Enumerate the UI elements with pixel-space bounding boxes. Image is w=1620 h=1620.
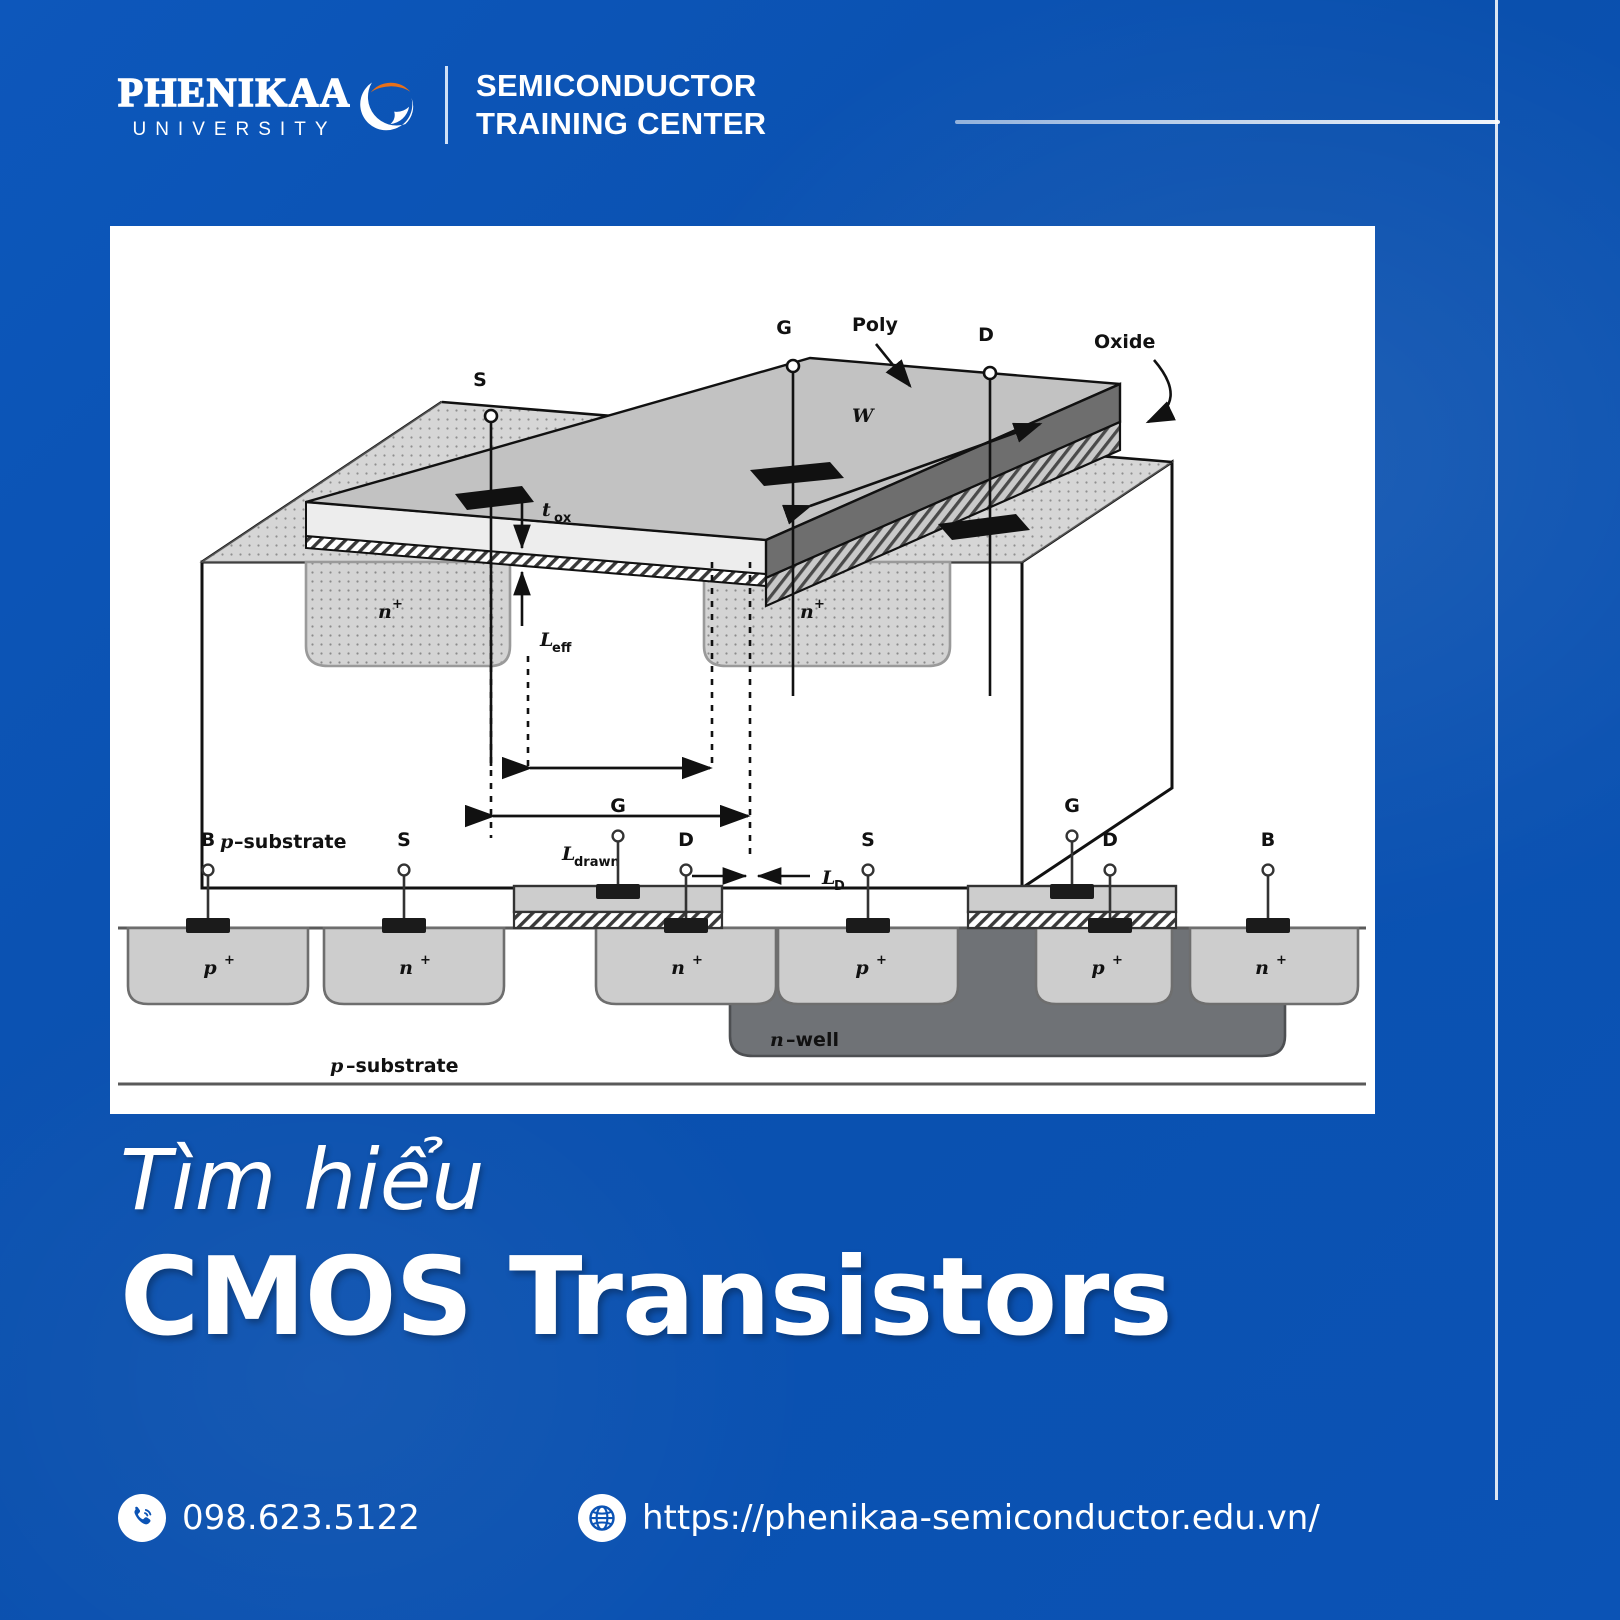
label-poly: Poly — [852, 314, 898, 336]
mosfet-3d-view: n + n + — [202, 314, 1172, 894]
label-cs-nmos-drain: D — [678, 829, 694, 851]
figure-panel: n + n + — [110, 226, 1375, 1114]
brand-divider — [445, 66, 448, 144]
label-n-well: –well — [786, 1029, 839, 1051]
label-cs-pmos-sup-2: + — [1276, 953, 1287, 968]
label-cs-nmos-gate: G — [610, 795, 626, 817]
header-accent-rule — [955, 120, 1500, 124]
label-cs-nmos-bulk: B — [201, 829, 215, 851]
source-n-plus-label: n — [378, 601, 392, 623]
vertical-accent-rule — [1495, 0, 1498, 1500]
headline: Tìm hiểu CMOS Transistors — [120, 1138, 1320, 1352]
drain-n-plus-label: n — [800, 601, 814, 623]
logo-wordmark: PHENIKAA — [118, 72, 351, 113]
label-oxide: Oxide — [1094, 331, 1155, 353]
phone-glyph — [127, 1503, 157, 1533]
poster-root: PHENIKAA UNIVERSITY SEMICONDUCTOR TRAINI… — [0, 0, 1620, 1620]
label-cs-nmos-region-1: n — [399, 957, 413, 979]
label-leff-sub: eff — [552, 641, 572, 656]
label-cs-pmos-region-1: p — [1091, 957, 1105, 979]
label-3d-substrate-prefix: p — [220, 831, 234, 853]
label-cs-pmos-region-2: n — [1255, 957, 1269, 979]
label-cs-pmos-gate: G — [1064, 795, 1080, 817]
phone-call-icon — [118, 1494, 166, 1542]
website-url: https://phenikaa-semiconductor.edu.vn/ — [642, 1498, 1320, 1538]
label-cs-nmos-sup-0: + — [224, 953, 235, 968]
label-cs-pmos-region-0: p — [855, 957, 869, 979]
label-W: W — [852, 405, 875, 427]
header: PHENIKAA UNIVERSITY SEMICONDUCTOR TRAINI… — [0, 0, 1620, 200]
label-n-well-prefix: n — [770, 1029, 784, 1051]
label-cs-pmos-drain: D — [1102, 829, 1118, 851]
label-cs-pmos-sup-1: + — [1112, 953, 1123, 968]
oxide-callout-arrow — [1148, 360, 1171, 422]
drain-n-plus-sup: + — [814, 597, 825, 612]
phenikaa-circle-swoosh-icon — [357, 70, 419, 136]
label-ldrawn-sub: drawn — [574, 855, 620, 870]
label-tox-base: t — [542, 499, 551, 521]
phenikaa-logo: PHENIKAA UNIVERSITY — [118, 72, 351, 139]
brand-lockup: PHENIKAA UNIVERSITY SEMICONDUCTOR TRAINI… — [118, 66, 766, 144]
label-cs-nmos-sup-1: + — [420, 953, 431, 968]
source-n-plus-sup: + — [392, 597, 403, 612]
logo-subword: UNIVERSITY — [132, 120, 336, 139]
label-3d-drain: D — [978, 324, 994, 346]
phone-number: 098.623.5122 — [182, 1498, 420, 1538]
globe-icon — [578, 1494, 626, 1542]
label-cs-nmos-sup-2: + — [692, 953, 703, 968]
footer: 098.623.5122 https://phenikaa-semiconduc… — [0, 1478, 1620, 1598]
label-tox-sub: ox — [554, 511, 572, 526]
label-cs-pmos-bulk: B — [1261, 829, 1275, 851]
label-cs-nmos-region-2: n — [671, 957, 685, 979]
label-cs-nmos-source: S — [397, 829, 411, 851]
headline-line1: Tìm hiểu — [120, 1138, 1320, 1222]
label-3d-source: S — [473, 369, 487, 391]
label-cs-pmos-sup-0: + — [876, 953, 887, 968]
source-n-plus-region — [306, 562, 510, 666]
label-cs-pmos-source: S — [861, 829, 875, 851]
label-ld-sub: D — [834, 879, 845, 894]
center-name-line1: SEMICONDUCTOR — [476, 67, 766, 105]
center-name-line2: TRAINING CENTER — [476, 105, 766, 143]
contact-phone[interactable]: 098.623.5122 — [118, 1494, 420, 1542]
contact-website[interactable]: https://phenikaa-semiconductor.edu.vn/ — [578, 1494, 1320, 1542]
page-title: CMOS Transistors — [120, 1244, 1320, 1352]
cmos-transistor-diagram: n + n + — [110, 226, 1375, 1114]
label-cs-substrate: –substrate — [346, 1055, 459, 1077]
label-cs-substrate-prefix: p — [330, 1055, 344, 1077]
globe-glyph — [587, 1503, 617, 1533]
label-3d-substrate: –substrate — [234, 831, 347, 853]
label-cs-nmos-region-0: p — [203, 957, 217, 979]
center-name: SEMICONDUCTOR TRAINING CENTER — [476, 67, 766, 143]
label-3d-gate: G — [776, 317, 792, 339]
